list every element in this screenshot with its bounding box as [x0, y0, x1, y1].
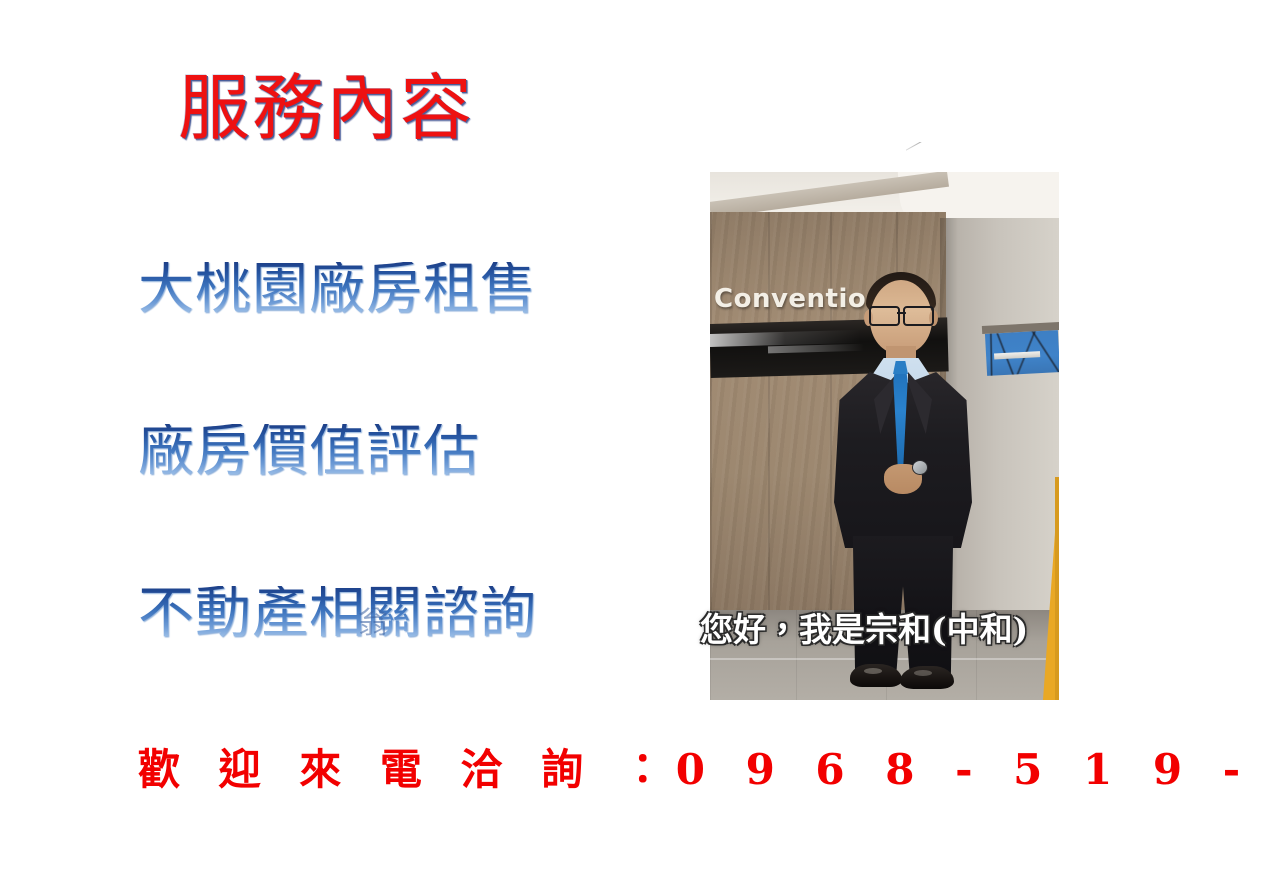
service-item-valuation: 廠房價值評估 — [138, 424, 480, 480]
photo-caption: 您好，我是宗和(中和) — [700, 612, 1028, 648]
contact-line: 歡 迎 來 電 洽 詢 ：0 9 6 8 - 5 1 9 - 8 8 8 — [138, 747, 1263, 793]
shoe-left-highlight — [864, 668, 882, 674]
blue-signage-panel — [985, 330, 1059, 376]
shoe-right-highlight — [914, 670, 932, 676]
contact-prefix: 歡 迎 來 電 洽 詢 ： — [138, 745, 676, 794]
service-item-factory-lease: 大桃園廠房租售 — [138, 262, 537, 318]
yellow-accent-edge — [1055, 477, 1059, 700]
phone-number: 0 9 6 8 - 5 1 9 - 8 8 8 — [676, 745, 1263, 794]
slide-canvas: 服務內容 大桃園廠房租售 廠房價值評估 不動產相關諮詢 翁 Convention… — [0, 0, 1263, 891]
wristwatch — [912, 460, 928, 475]
glasses-icon — [868, 306, 935, 323]
service-item-consulting: 不動產相關諮詢 — [138, 586, 537, 642]
diagonal-stroke-icon — [906, 142, 950, 166]
trousers — [846, 536, 960, 676]
glasses-bridge — [897, 312, 906, 314]
